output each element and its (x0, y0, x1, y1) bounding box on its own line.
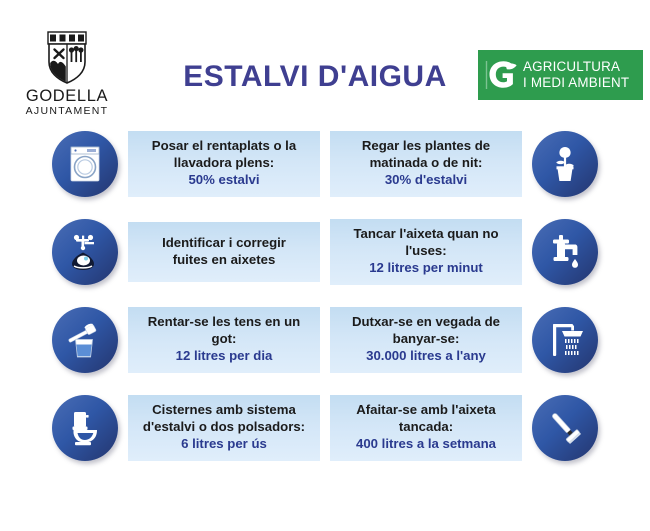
shower-icon (532, 307, 598, 373)
washing-machine-icon (52, 131, 118, 197)
godella-coat-of-arms-icon (12, 28, 122, 86)
tip-card: Afaitar-se amb l'aixeta tancada: 400 lit… (330, 384, 598, 472)
tip-line-2: fuites en aixetes (134, 252, 314, 269)
tip-textbox: Rentar-se les tens en un got: 12 litres … (128, 307, 320, 373)
tip-textbox: Dutxar-se en vegada de banyar-se: 30.000… (330, 307, 522, 373)
tip-card: Identificar i corregir fuites en aixetes (52, 208, 320, 296)
tip-line-1: Regar les plantes de (336, 138, 516, 155)
municipality-logo: GODELLA AJUNTAMENT (12, 28, 122, 117)
tip-value: 12 litres per dia (134, 348, 314, 365)
tip-card: Cisternes amb sistema d'estalvi o dos po… (52, 384, 320, 472)
tip-line-1: Identificar i corregir (134, 235, 314, 252)
municipality-name: GODELLA (12, 88, 122, 105)
tip-line-2: tancada: (336, 419, 516, 436)
page-title: ESTALVI D'AIGUA (150, 60, 480, 94)
tip-textbox: Regar les plantes de matinada o de nit: … (330, 131, 522, 197)
tip-line-1: Rentar-se les tens en un (134, 314, 314, 331)
logo-line-1: AGRICULTURA (523, 59, 643, 75)
tip-textbox: Posar el rentaplats o la llavadora plens… (128, 131, 320, 197)
tip-line-1: Cisternes amb sistema (134, 402, 314, 419)
tip-card: Rentar-se les tens en un got: 12 litres … (52, 296, 320, 384)
potted-plant-icon (532, 131, 598, 197)
tips-row: Identificar i corregir fuites en aixetes (0, 208, 650, 296)
tip-line-1: Posar el rentaplats o la (134, 138, 314, 155)
razor-icon (532, 395, 598, 461)
tip-textbox: Tancar l'aixeta quan no l'uses: 12 litre… (330, 219, 522, 285)
tip-line-2: l'uses: (336, 243, 516, 260)
tip-value: 30.000 litres a l'any (336, 348, 516, 365)
tips-row: Posar el rentaplats o la llavadora plens… (0, 120, 650, 208)
tip-value: 12 litres per minut (336, 260, 516, 277)
logo-line-2: I MEDI AMBIENT (523, 75, 643, 91)
municipality-subtitle: AJUNTAMENT (12, 106, 122, 117)
tips-row: Cisternes amb sistema d'estalvi o dos po… (0, 384, 650, 472)
tip-line-1: Tancar l'aixeta quan no (336, 226, 516, 243)
tip-value: 400 litres a la setmana (336, 436, 516, 453)
tip-card: Regar les plantes de matinada o de nit: … (330, 120, 598, 208)
tip-line-2: banyar-se: (336, 331, 516, 348)
tip-line-2: d'estalvi o dos polsadors: (134, 419, 314, 436)
tip-line-2: got: (134, 331, 314, 348)
tip-card: Posar el rentaplats o la llavadora plens… (52, 120, 320, 208)
tip-line-1: Afaitar-se amb l'aixeta (336, 402, 516, 419)
tip-line-2: llavadora plens: (134, 155, 314, 172)
tip-value: 30% d'estalvi (336, 172, 516, 189)
tip-line-2: matinada o de nit: (336, 155, 516, 172)
tip-textbox: Identificar i corregir fuites en aixetes (128, 222, 320, 282)
tip-textbox: Afaitar-se amb l'aixeta tancada: 400 lit… (330, 395, 522, 461)
tip-card: Dutxar-se en vegada de banyar-se: 30.000… (330, 296, 598, 384)
water-saving-tips-grid: Posar el rentaplats o la llavadora plens… (0, 120, 650, 485)
leaking-faucet-icon (52, 219, 118, 285)
agriculture-environment-logo: AGRICULTURA I MEDI AMBIENT (478, 50, 643, 100)
g-leaf-mark-icon (485, 57, 519, 93)
header: GODELLA AJUNTAMENT ESTALVI D'AIGUA AGRIC… (0, 0, 650, 118)
tip-value: 50% estalvi (134, 172, 314, 189)
tip-value: 6 litres per ús (134, 436, 314, 453)
toothbrush-glass-icon (52, 307, 118, 373)
tip-card: Tancar l'aixeta quan no l'uses: 12 litre… (330, 208, 598, 296)
faucet-drip-icon (532, 219, 598, 285)
toilet-icon (52, 395, 118, 461)
tip-textbox: Cisternes amb sistema d'estalvi o dos po… (128, 395, 320, 461)
agriculture-environment-text: AGRICULTURA I MEDI AMBIENT (519, 59, 643, 91)
tip-line-1: Dutxar-se en vegada de (336, 314, 516, 331)
tips-row: Rentar-se les tens en un got: 12 litres … (0, 296, 650, 384)
